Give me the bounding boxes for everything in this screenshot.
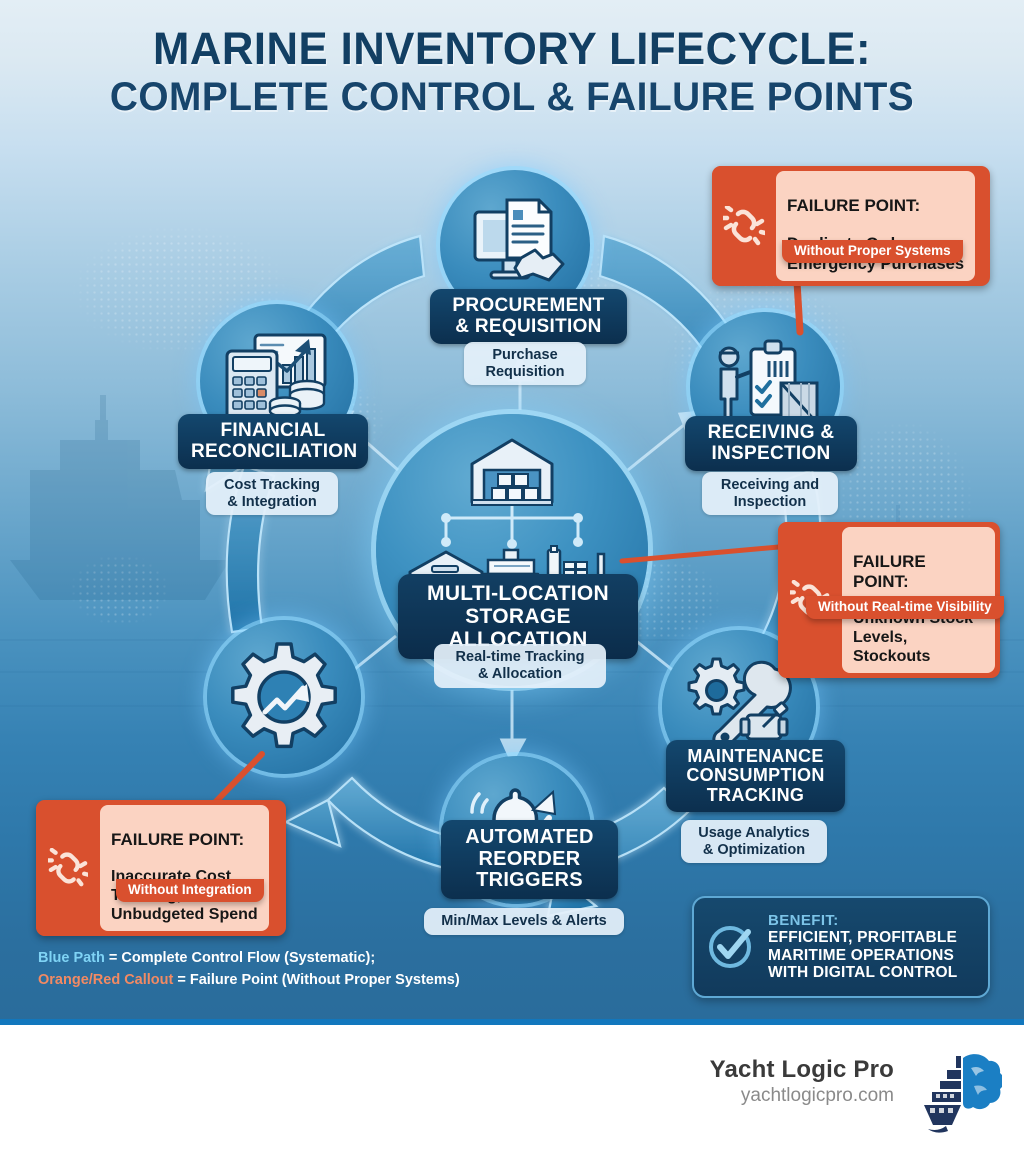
panel-bottom-accent-bar [0, 1019, 1024, 1025]
callout-duplicate-orders-footer: Without Proper Systems [782, 240, 963, 263]
callout-duplicate-orders[interactable]: FAILURE POINT: Duplicate Orders, Emergen… [712, 166, 990, 286]
callout-duplicate-orders-header: FAILURE POINT: [787, 196, 964, 216]
infographic-panel: MARINE INVENTORY LIFECYCLE: COMPLETE CON… [0, 0, 1024, 1025]
legend-blue-text: = Complete Control Flow (Systematic); [105, 950, 375, 966]
pointer-unknown-stock [622, 546, 790, 561]
callout-inaccurate-cost-header: FAILURE POINT: [111, 830, 258, 850]
benefit-body: EFFICIENT, PROFITABLE MARITIME OPERATION… [768, 929, 957, 983]
benefit-box: BENEFIT: EFFICIENT, PROFITABLE MARITIME … [692, 896, 990, 998]
callout-inaccurate-cost-footer: Without Integration [116, 879, 264, 902]
callout-inaccurate-cost-text: FAILURE POINT: Inaccurate Cost Tracking,… [100, 805, 269, 931]
legend-orange-key: Orange/Red Callout [38, 972, 173, 988]
callout-duplicate-orders-text: FAILURE POINT: Duplicate Orders, Emergen… [776, 171, 975, 281]
legend-orange-text: = Failure Point (Without Proper Systems) [173, 972, 459, 988]
callout-unknown-stock-footer: Without Real-time Visibility [806, 596, 1004, 619]
broken-chain-icon [36, 800, 100, 936]
infographic-stage: MARINE INVENTORY LIFECYCLE: COMPLETE CON… [0, 0, 1024, 1154]
check-circle-icon [706, 921, 758, 973]
legend: Blue Path = Complete Control Flow (Syste… [38, 948, 460, 992]
broken-chain-icon [712, 166, 776, 286]
brand-name: Yacht Logic Pro [710, 1056, 894, 1084]
brand-url[interactable]: yachtlogicpro.com [710, 1085, 894, 1107]
callout-unknown-stock-header: FAILURE POINT: [853, 552, 984, 592]
benefit-label: BENEFIT: [768, 912, 957, 929]
callout-inaccurate-cost[interactable]: FAILURE POINT: Inaccurate Cost Tracking,… [36, 800, 286, 936]
brand-text-block: Yacht Logic Pro yachtlogicpro.com [710, 1056, 894, 1107]
legend-blue-key: Blue Path [38, 950, 105, 966]
ship-brain-logo-icon [916, 1052, 1002, 1136]
callout-unknown-stock[interactable]: FAILURE POINT: Unknown Stock Levels, Sto… [778, 522, 1000, 678]
legend-row-blue: Blue Path = Complete Control Flow (Syste… [38, 948, 460, 970]
legend-row-orange: Orange/Red Callout = Failure Point (With… [38, 970, 460, 992]
benefit-text-block: BENEFIT: EFFICIENT, PROFITABLE MARITIME … [768, 912, 957, 983]
